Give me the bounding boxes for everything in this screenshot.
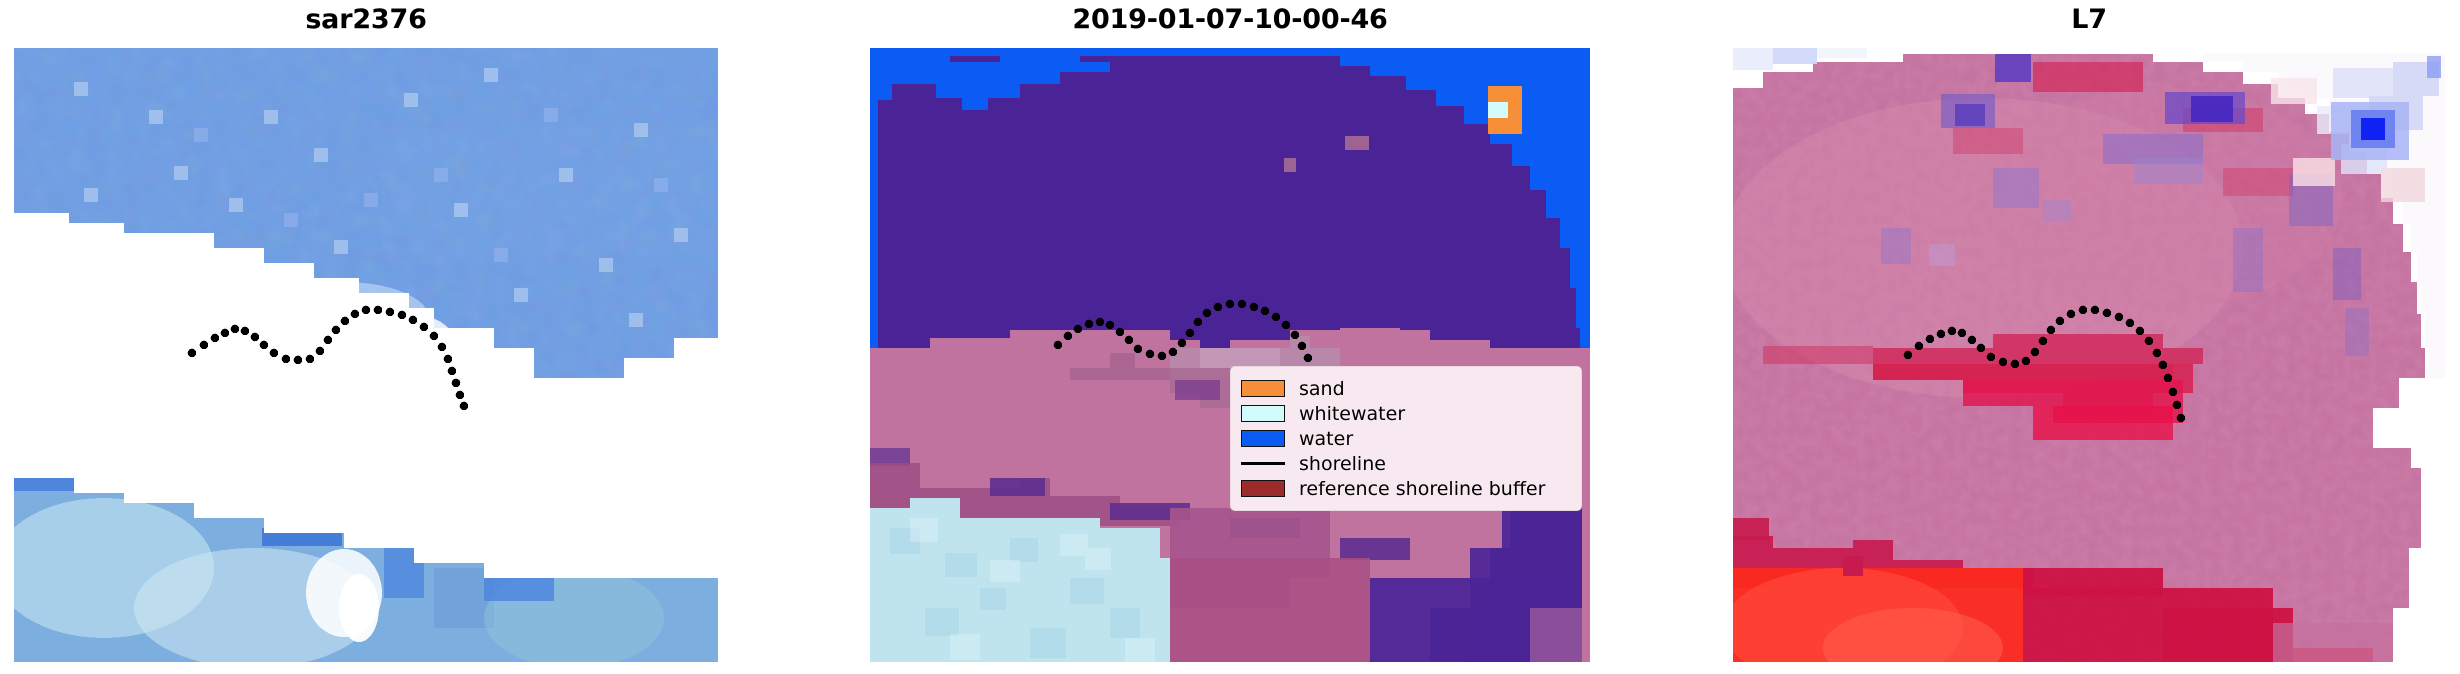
panel-image-classification[interactable]: sand whitewater water shoreline bbox=[870, 48, 1590, 662]
sand-swatch bbox=[1241, 380, 1285, 397]
panel-title-l7: L7 bbox=[1733, 4, 2445, 35]
whitewater-swatch bbox=[1241, 405, 1285, 422]
sand-patch-marker bbox=[1488, 86, 1522, 134]
panel-image-sar[interactable] bbox=[14, 48, 718, 662]
legend-label-sand: sand bbox=[1299, 378, 1345, 400]
legend-item-shoreline: shoreline bbox=[1241, 451, 1569, 476]
l7-raster bbox=[1733, 48, 2445, 662]
legend: sand whitewater water shoreline bbox=[1230, 366, 1582, 511]
water-swatch bbox=[1241, 430, 1285, 447]
legend-label-water: water bbox=[1299, 428, 1353, 450]
legend-item-water: water bbox=[1241, 426, 1569, 451]
legend-label-shoreline: shoreline bbox=[1299, 453, 1386, 475]
panel-title-classification: 2019-01-07-10-00-46 bbox=[870, 4, 1590, 35]
panel-title-sar: sar2376 bbox=[14, 4, 718, 35]
reference-buffer-swatch bbox=[1241, 480, 1285, 497]
legend-item-sand: sand bbox=[1241, 376, 1569, 401]
sar-raster bbox=[14, 48, 718, 662]
legend-item-reference-buffer: reference shoreline buffer bbox=[1241, 476, 1569, 501]
figure-canvas: sar2376 bbox=[0, 0, 2460, 674]
legend-label-reference-buffer: reference shoreline buffer bbox=[1299, 478, 1545, 500]
legend-item-whitewater: whitewater bbox=[1241, 401, 1569, 426]
l7-blue-anomaly bbox=[2331, 102, 2409, 160]
shoreline-line-icon bbox=[1241, 455, 1285, 472]
legend-label-whitewater: whitewater bbox=[1299, 403, 1405, 425]
panel-image-l7[interactable] bbox=[1733, 48, 2445, 662]
classification-raster bbox=[870, 48, 1590, 662]
